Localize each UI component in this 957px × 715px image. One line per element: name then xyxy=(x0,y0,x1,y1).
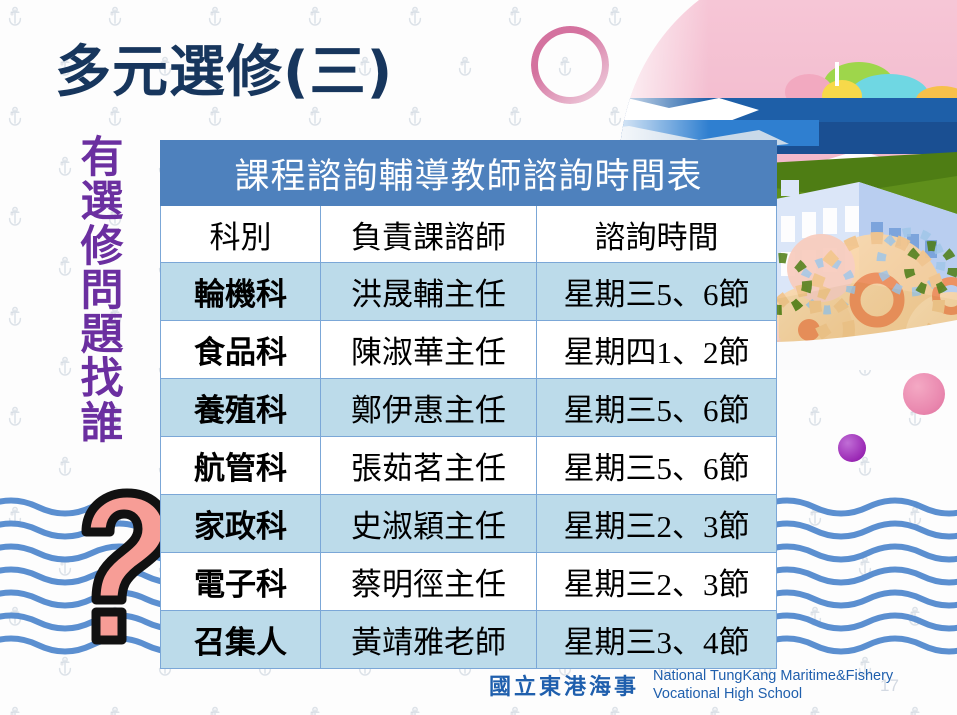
table-row: 電子科 蔡明徑主任 星期三2、3節 xyxy=(161,553,777,611)
side-char-3: 問 xyxy=(74,269,130,313)
pink-dot-decoration xyxy=(903,373,945,415)
cell-time: 星期三5、6節 xyxy=(537,263,777,321)
table-caption-row: 課程諮詢輔導教師諮詢時間表 xyxy=(161,141,777,206)
side-char-0: 有 xyxy=(74,136,130,180)
cell-teacher: 陳淑華主任 xyxy=(321,321,537,379)
purple-dot-decoration xyxy=(838,434,866,462)
side-vertical-text: 有 選 修 問 題 找 誰 xyxy=(74,136,130,446)
table-caption: 課程諮詢輔導教師諮詢時間表 xyxy=(161,141,777,206)
cell-subject: 家政科 xyxy=(161,495,321,553)
school-name-cn: 國立東港海事 xyxy=(489,669,639,701)
cell-teacher: 張茹茗主任 xyxy=(321,437,537,495)
cell-time: 星期三2、3節 xyxy=(537,495,777,553)
school-name-en-line1: National TungKang Maritime&Fishery xyxy=(653,667,893,685)
side-char-4: 題 xyxy=(74,313,130,357)
cell-teacher: 洪晟輔主任 xyxy=(321,263,537,321)
table-row: 召集人 黃靖雅老師 星期三3、4節 xyxy=(161,611,777,669)
page-title: 多元選修(三) xyxy=(55,44,393,103)
school-name-en-line2: Vocational High School xyxy=(653,685,893,703)
wave-lines-decoration-right xyxy=(770,495,957,680)
table-row: 輪機科 洪晟輔主任 星期三5、6節 xyxy=(161,263,777,321)
footer: 國立東港海事 National TungKang Maritime&Fisher… xyxy=(489,667,893,703)
cell-time: 星期三5、6節 xyxy=(537,379,777,437)
cell-teacher: 鄭伊惠主任 xyxy=(321,379,537,437)
cell-subject: 食品科 xyxy=(161,321,321,379)
table-row: 食品科 陳淑華主任 星期四1、2節 xyxy=(161,321,777,379)
table-row: 養殖科 鄭伊惠主任 星期三5、6節 xyxy=(161,379,777,437)
column-header-time: 諮詢時間 xyxy=(537,206,777,263)
side-char-2: 修 xyxy=(74,225,130,269)
cell-teacher: 黃靖雅老師 xyxy=(321,611,537,669)
cell-time: 星期三3、4節 xyxy=(537,611,777,669)
cell-subject: 電子科 xyxy=(161,553,321,611)
side-char-6: 誰 xyxy=(74,402,130,446)
side-char-1: 選 xyxy=(74,180,130,224)
page-number: 17 xyxy=(880,676,899,696)
side-char-5: 找 xyxy=(74,357,130,401)
cell-time: 星期三5、6節 xyxy=(537,437,777,495)
cell-teacher: 史淑穎主任 xyxy=(321,495,537,553)
column-header-subject: 科別 xyxy=(161,206,321,263)
school-name-en: National TungKang Maritime&Fishery Vocat… xyxy=(653,667,893,703)
cell-subject: 輪機科 xyxy=(161,263,321,321)
cell-teacher: 蔡明徑主任 xyxy=(321,553,537,611)
cell-time: 星期四1、2節 xyxy=(537,321,777,379)
cell-subject: 養殖科 xyxy=(161,379,321,437)
column-header-teacher: 負責課諮師 xyxy=(321,206,537,263)
pink-ring-decoration xyxy=(531,26,609,104)
table-row: 家政科 史淑穎主任 星期三2、3節 xyxy=(161,495,777,553)
table-header-row: 科別 負責課諮師 諮詢時間 xyxy=(161,206,777,263)
cell-subject: 航管科 xyxy=(161,437,321,495)
table-row: 航管科 張茹茗主任 星期三5、6節 xyxy=(161,437,777,495)
consultation-schedule-table: 課程諮詢輔導教師諮詢時間表 科別 負責課諮師 諮詢時間 輪機科 洪晟輔主任 星期… xyxy=(160,140,777,669)
cell-subject: 召集人 xyxy=(161,611,321,669)
cell-time: 星期三2、3節 xyxy=(537,553,777,611)
